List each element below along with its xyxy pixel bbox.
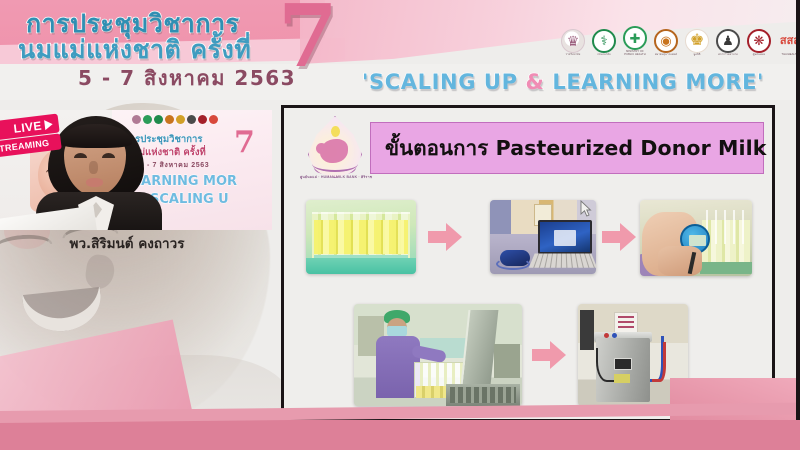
organization-logo-1: ♛ ราชวิทยาลัย bbox=[560, 29, 586, 57]
arrow-step-1-to-2 bbox=[428, 222, 462, 252]
arrow-shaft bbox=[428, 231, 448, 243]
organization-logo-3-caption: MINISTRY OF PUBLIC HEALTH bbox=[622, 51, 648, 57]
pasteurizer-rack-grid bbox=[450, 387, 516, 403]
screen-capture: การประชุมวิชาการ นมแม่แห่งชาติ ครั้งที่ … bbox=[0, 0, 800, 450]
royal-crown-logo-icon: ♚ bbox=[685, 29, 709, 53]
human-milk-bank-logo: ศูนย์นมแม่ · HUMAN MILK BANK · ศิริราช bbox=[298, 112, 372, 190]
milk-droplet-dot-icon bbox=[331, 126, 340, 137]
sign-text-line-1 bbox=[618, 316, 634, 318]
mouse-cursor bbox=[580, 200, 592, 218]
speaker-mouth bbox=[86, 178, 103, 187]
arrow-step-2-to-3 bbox=[602, 222, 636, 252]
speaker-right-eye bbox=[102, 153, 115, 158]
pasteurizer-warning-label bbox=[614, 374, 630, 383]
organization-logo-4: ◉ สมาคมกุมารแพทย์ bbox=[653, 29, 679, 57]
thai-instruction-sign bbox=[614, 312, 638, 334]
live-badge-main-label: LIVE bbox=[13, 118, 43, 135]
laptop-screen bbox=[538, 220, 592, 254]
sign-text-line-3 bbox=[618, 326, 634, 328]
backdrop-logo-6-icon bbox=[187, 115, 196, 124]
power-cord bbox=[596, 348, 614, 382]
speaker-left-eye bbox=[74, 153, 87, 158]
slogan-suffix-text: LEARNING MORE' bbox=[544, 70, 764, 94]
organization-logo-2: ⚕ กรมอนามัย bbox=[591, 29, 617, 57]
presentation-slide-panel[interactable]: ศูนย์นมแม่ · HUMAN MILK BANK · ศิริราช ข… bbox=[281, 105, 775, 422]
organization-logo-4-caption: สมาคมกุมารแพทย์ bbox=[653, 54, 679, 57]
organization-logo-strip: ♛ ราชวิทยาลัย ⚕ กรมอนามัย ✚ MINISTRY OF … bbox=[560, 26, 800, 57]
play-triangle-icon bbox=[44, 119, 53, 130]
organization-logo-5-caption: มูลนิธิ bbox=[684, 54, 710, 57]
scanner-cable bbox=[496, 258, 530, 270]
dark-doorway bbox=[580, 310, 594, 350]
ministry-public-health-logo-icon: ⚕ bbox=[592, 29, 616, 53]
organization-logo-1-caption: ราชวิทยาลัย bbox=[560, 54, 586, 57]
pasteurizer-control-display bbox=[614, 358, 632, 370]
laptop-keyboard bbox=[529, 254, 596, 268]
backdrop-logo-4-icon bbox=[165, 115, 174, 124]
slide-title-text: ขั้นตอนการ Pasteurized Donor Milk bbox=[385, 132, 767, 165]
arrow-head-icon bbox=[550, 341, 566, 369]
organization-logo-5: ♚ มูลนิธิ bbox=[684, 29, 710, 57]
organization-logo-3: ✚ MINISTRY OF PUBLIC HEALTH bbox=[622, 26, 648, 57]
laptop-window bbox=[554, 230, 576, 246]
slide-title-banner: ขั้นตอนการ Pasteurized Donor Milk bbox=[370, 122, 764, 174]
slogan-ampersand: & bbox=[526, 70, 545, 94]
slogan-prefix-text: 'SCALING UP bbox=[362, 70, 526, 94]
organization-logo-6: ♟ สภาการพยาบาล bbox=[715, 29, 741, 57]
arrow-shaft bbox=[532, 349, 552, 361]
photo-hand-holding-digital-timer[interactable] bbox=[640, 200, 752, 276]
thai-royal-emblem-logo-icon: ♛ bbox=[561, 29, 585, 53]
tray-wire-rods bbox=[706, 210, 746, 244]
organization-logo-6-caption: สภาการพยาบาล bbox=[715, 54, 741, 57]
organization-logo-7: ❋ ศูนย์นมแม่ bbox=[746, 29, 772, 57]
backdrop-logo-5-icon bbox=[176, 115, 185, 124]
organization-logo-2-caption: กรมอนามัย bbox=[591, 54, 617, 57]
thai-pediatric-society-logo-icon: ◉ bbox=[654, 29, 678, 53]
photo-milk-bottle-rack[interactable] bbox=[306, 200, 416, 274]
right-black-edge bbox=[796, 0, 800, 420]
arrow-shaft bbox=[602, 231, 622, 243]
speaker-name-caption: พว.สิริมนต์ คงถาวร bbox=[12, 232, 242, 254]
conference-date-range: 5 - 7 สิงหาคม 2563 bbox=[78, 62, 296, 94]
sign-text-line-2 bbox=[618, 321, 634, 323]
milk-bottles-row bbox=[314, 220, 408, 254]
backdrop-edition-number: 7 bbox=[234, 128, 255, 158]
speaker-webcam-panel[interactable]: การประชุมวิชาการ นมแม่แห่งชาติ ครั้งที่ … bbox=[0, 110, 272, 230]
red-water-hose bbox=[652, 342, 666, 382]
backdrop-logo-8-icon bbox=[209, 115, 218, 124]
photo-nurse-loading-pasteurizer[interactable] bbox=[354, 304, 522, 406]
arrow-head-icon bbox=[446, 223, 462, 251]
hand-lower bbox=[658, 246, 702, 276]
bottom-pink-strip bbox=[0, 420, 800, 450]
timer-display bbox=[689, 235, 706, 246]
milk-bank-logo-ring-text: ศูนย์นมแม่ · HUMAN MILK BANK · ศิริราช bbox=[300, 166, 370, 188]
green-tray bbox=[700, 262, 752, 274]
organization-logo-7-caption: ศูนย์นมแม่ bbox=[746, 54, 772, 57]
speaker-nose bbox=[89, 161, 98, 174]
arrow-step-4-to-5 bbox=[532, 340, 566, 370]
backdrop-logo-7-icon bbox=[198, 115, 207, 124]
department-health-logo-icon: ✚ bbox=[623, 26, 647, 50]
nursing-council-logo-icon: ♟ bbox=[716, 29, 740, 53]
conference-slogan: 'SCALING UP & LEARNING MORE' bbox=[362, 70, 792, 94]
slide-background: ศูนย์นมแม่ · HUMAN MILK BANK · ศิริราช ข… bbox=[284, 108, 772, 419]
conference-edition-number: 7 bbox=[278, 0, 338, 80]
conference-header-banner: การประชุมวิชาการ นมแม่แห่งชาติ ครั้งที่ … bbox=[0, 0, 800, 100]
thai-breastfeeding-centre-logo-icon: ❋ bbox=[747, 29, 771, 53]
arrow-head-icon bbox=[620, 223, 636, 251]
equipment-panel bbox=[494, 344, 520, 378]
room-floor bbox=[306, 258, 416, 274]
